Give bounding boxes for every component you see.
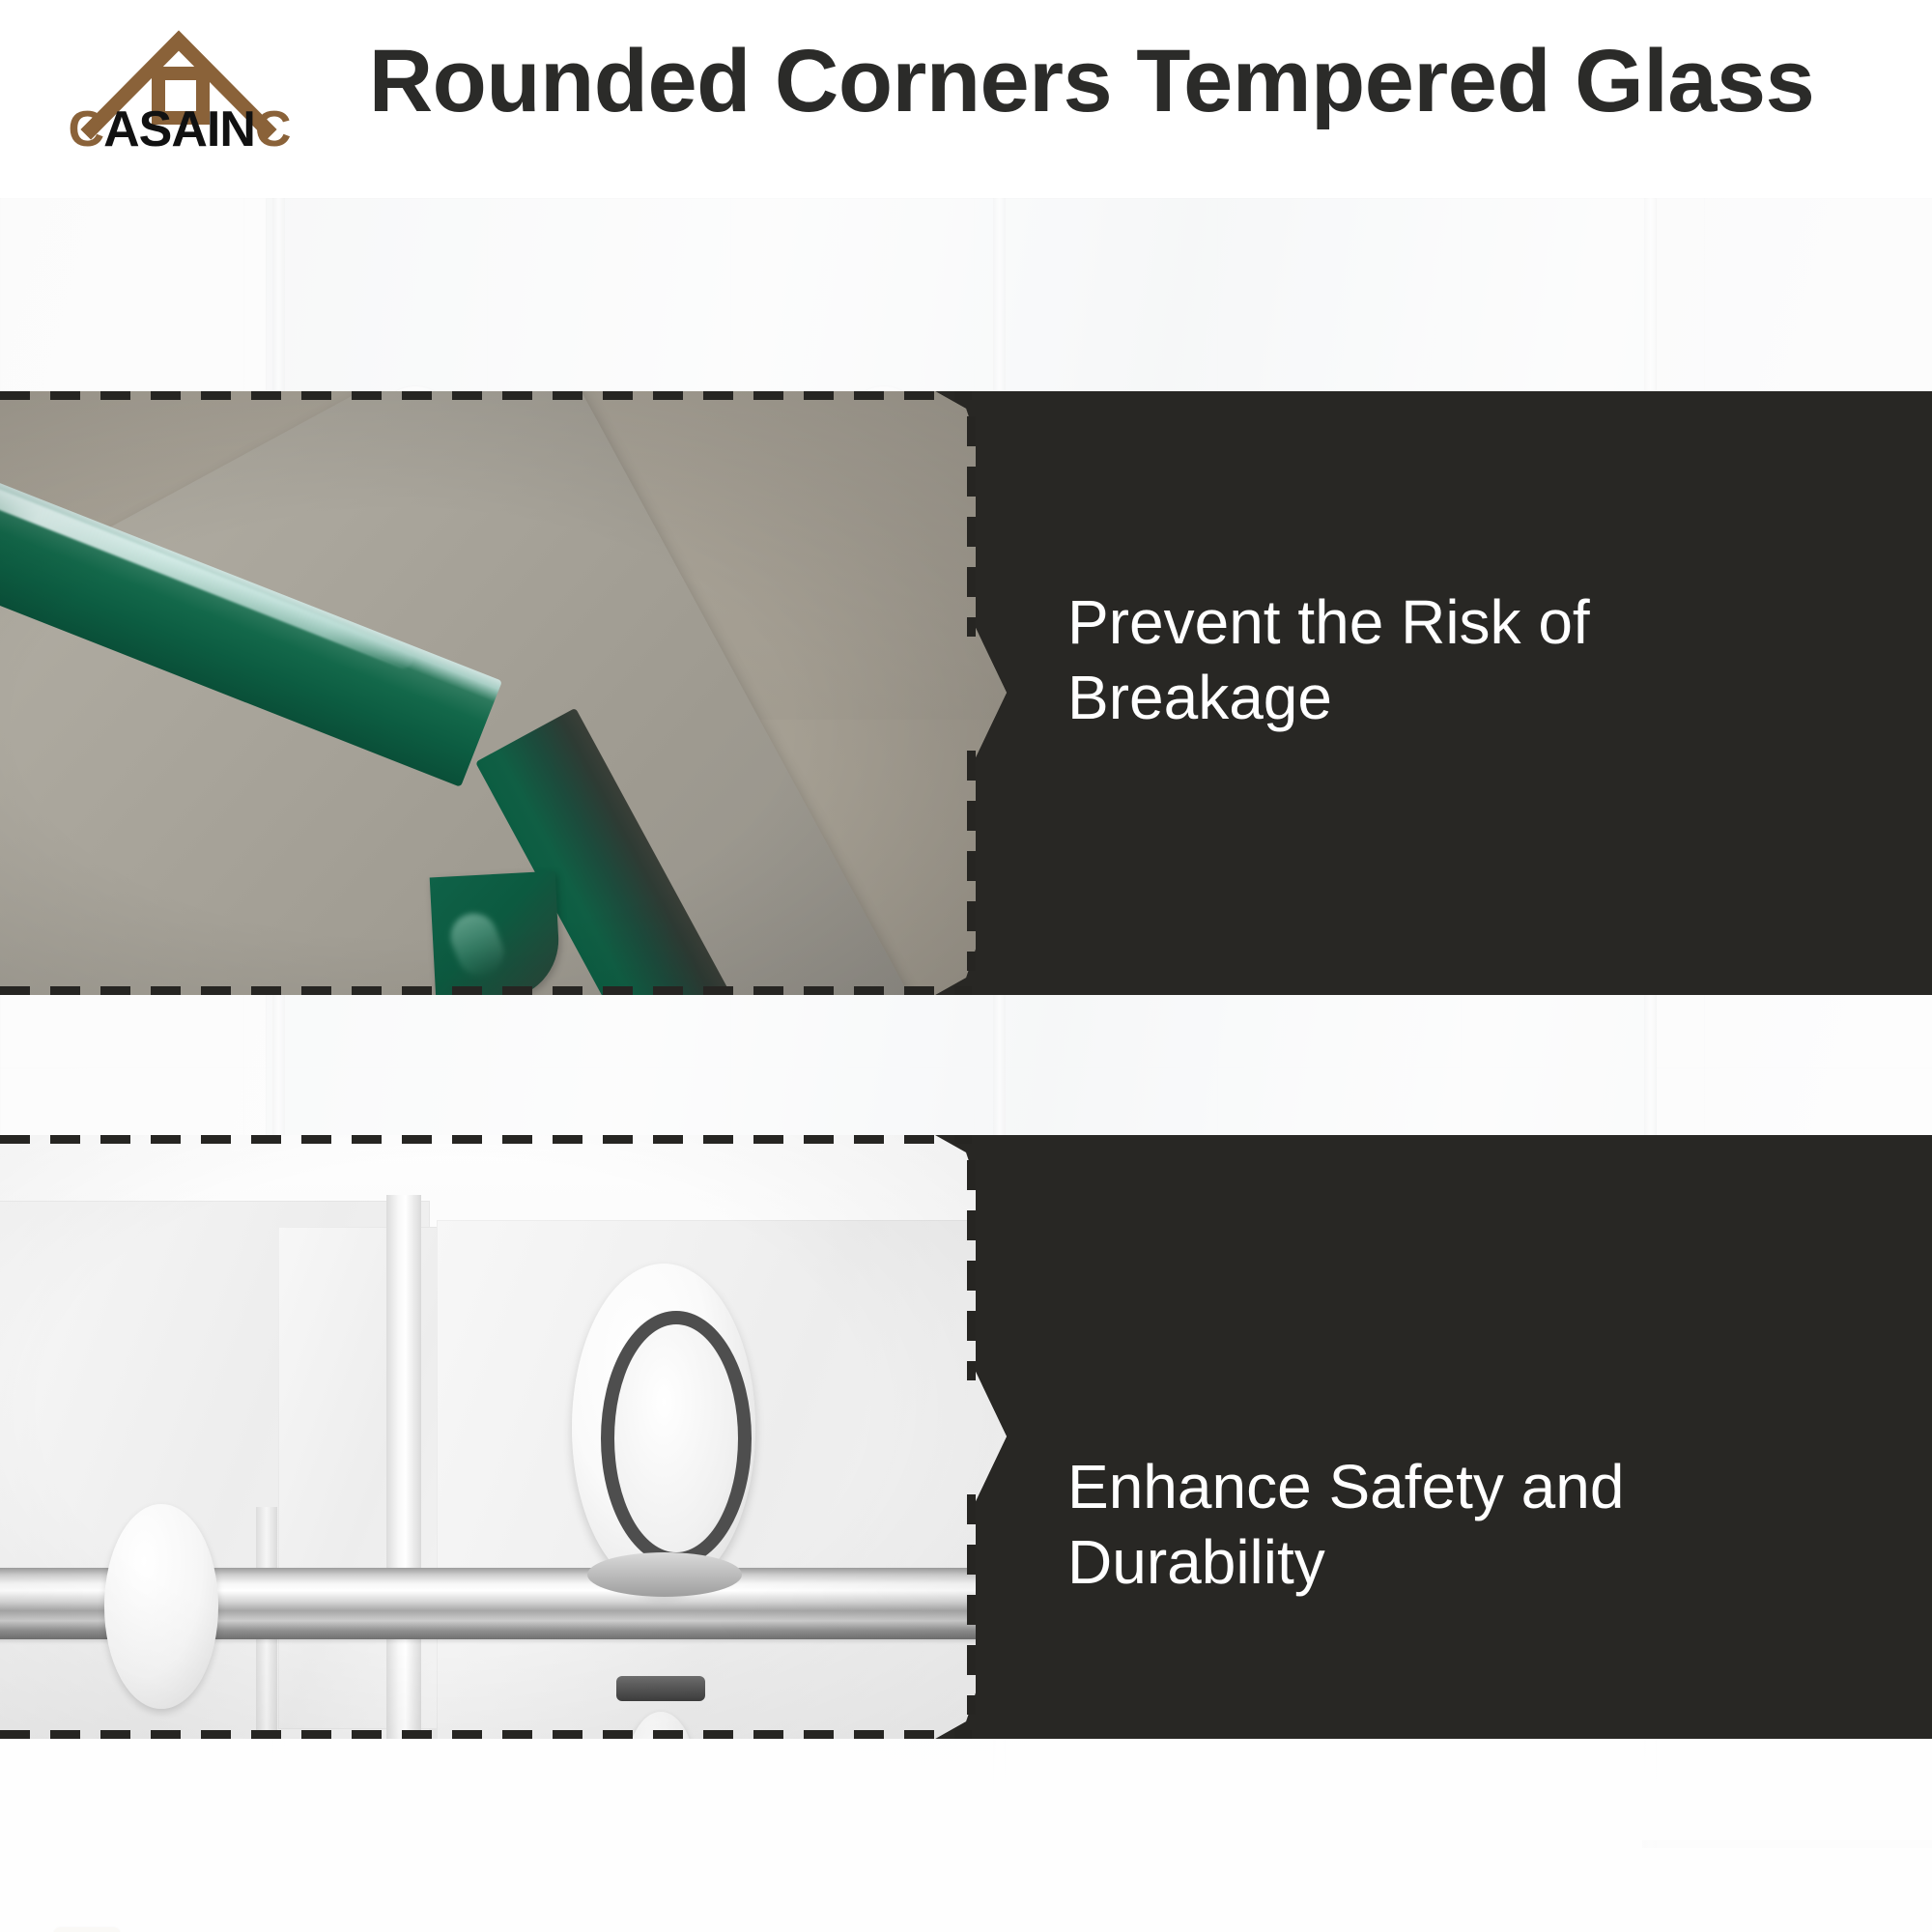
feature-2-caption: Enhance Safety and Durability bbox=[1067, 1449, 1860, 1600]
logo-letter-middle: ASAIN bbox=[103, 100, 255, 158]
photo2-vignette bbox=[0, 1135, 1007, 1739]
page-title: Rounded Corners Tempered Glass bbox=[270, 21, 1913, 142]
product-feature-infographic: CASAINC Rounded Corners Tempered Glass bbox=[0, 0, 1932, 1932]
photo1-dashed-border-bottom bbox=[0, 986, 972, 995]
feature-1-caption-line-2: Breakage bbox=[1067, 660, 1860, 735]
feature-2-caption-line-1: Enhance Safety and bbox=[1067, 1449, 1860, 1524]
brand-logo[interactable]: CASAINC bbox=[75, 17, 283, 157]
photo2-dashed-border-right-upper bbox=[967, 1160, 976, 1380]
photo1-dashed-border-right-upper bbox=[967, 416, 976, 637]
feature-row-enhance-safety: Enhance Safety and Durability bbox=[0, 1135, 1932, 1739]
feature-2-caption-line-2: Durability bbox=[1067, 1524, 1860, 1600]
photo2-dashed-border-top bbox=[0, 1135, 972, 1144]
logo-letter-first: C bbox=[69, 100, 104, 158]
header-bar: CASAINC Rounded Corners Tempered Glass bbox=[0, 0, 1932, 198]
feature-row-prevent-breakage: Prevent the Risk of Breakage bbox=[0, 391, 1932, 995]
photo-shower-door-roller bbox=[0, 1135, 1007, 1739]
photo1-vignette bbox=[0, 391, 1007, 995]
photo2-dashed-border-bottom bbox=[0, 1730, 972, 1739]
feature-1-caption: Prevent the Risk of Breakage bbox=[1067, 584, 1860, 735]
photo1-dashed-border-top bbox=[0, 391, 972, 400]
photo2-dashed-border-right-lower bbox=[967, 1494, 976, 1715]
feature-1-caption-line-1: Prevent the Risk of bbox=[1067, 584, 1860, 660]
photo1-dashed-border-right-lower bbox=[967, 751, 976, 971]
photo-rounded-glass-corner bbox=[0, 391, 1007, 995]
